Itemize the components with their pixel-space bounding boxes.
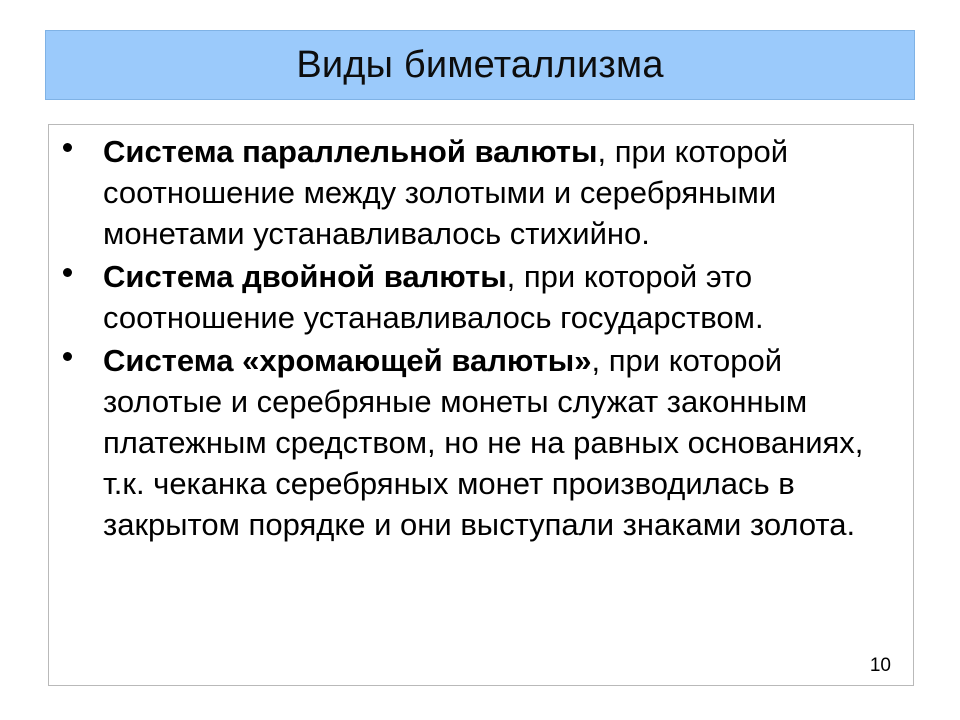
bullet-term: Система двойной валюты [103, 259, 507, 294]
page-number: 10 [870, 656, 891, 675]
list-item: Система параллельной валюты, при которой… [59, 131, 905, 254]
list-item: Система «хромающей валюты», при которой … [59, 340, 905, 545]
presentation-slide: Виды биметаллизма Система параллельной в… [0, 0, 960, 720]
slide-content-box: Система параллельной валюты, при которой… [48, 124, 914, 686]
bullet-list: Система параллельной валюты, при которой… [59, 131, 905, 545]
bullet-term: Система параллельной валюты [103, 134, 597, 169]
bullet-dot-icon [63, 143, 72, 152]
bullet-dot-icon [63, 268, 72, 277]
slide-title-banner: Виды биметаллизма [45, 30, 915, 100]
slide-title: Виды биметаллизма [296, 46, 663, 84]
bullet-dot-icon [63, 352, 72, 361]
list-item: Система двойной валюты, при которой это … [59, 256, 905, 338]
bullet-term: Система «хромающей валюты» [103, 343, 592, 378]
